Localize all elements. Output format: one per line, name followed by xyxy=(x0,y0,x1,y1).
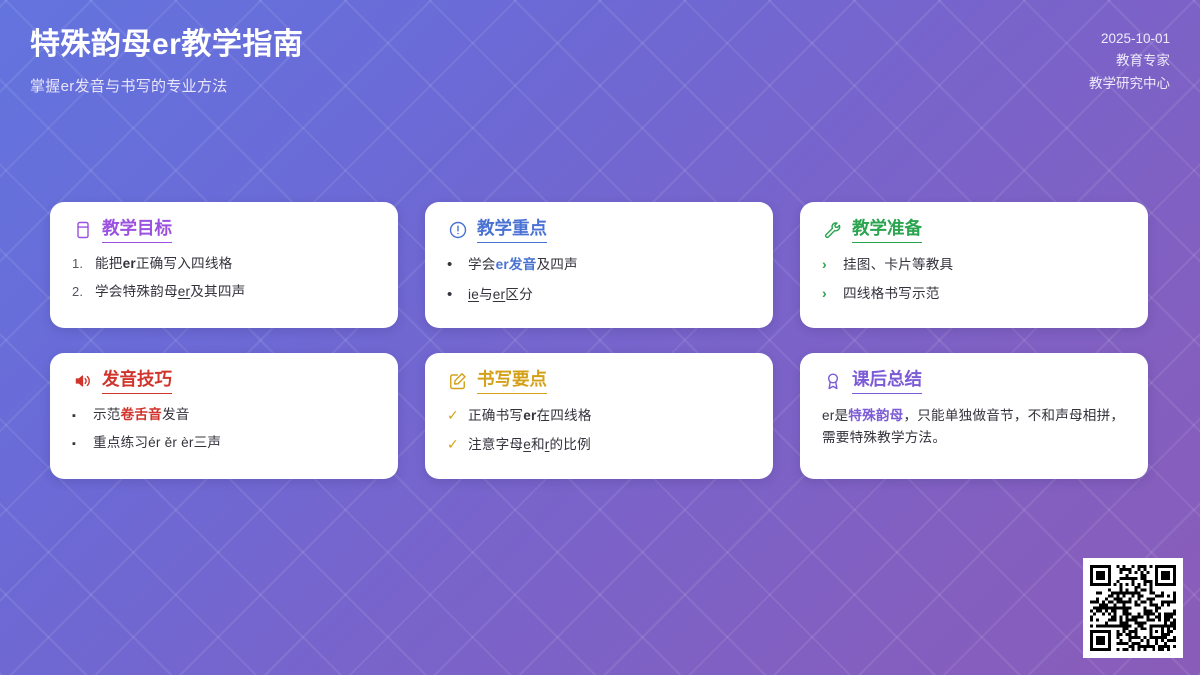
card-list: 1.能把er正确写入四线格2.学会特殊韵母er及其四声 xyxy=(72,254,378,302)
list-marker: 1. xyxy=(72,255,87,274)
card-list: •学会er发音及四声•ie与er区分 xyxy=(447,254,753,306)
list-item-text: ie与er区分 xyxy=(468,285,753,305)
card-writing-points: 书写要点✓正确书写er在四线格✓注意字母e和r的比例 xyxy=(425,353,773,479)
card-teaching-objectives: 教学目标1.能把er正确写入四线格2.学会特殊韵母er及其四声 xyxy=(50,202,398,328)
card-title: 教学目标 xyxy=(102,218,172,243)
wrench-icon xyxy=(822,220,843,241)
header-date: 2025-10-01 xyxy=(1089,28,1170,50)
card-header: 教学目标 xyxy=(72,218,378,243)
card-header: 教学重点 xyxy=(447,218,753,243)
list-item: ›四线格书写示范 xyxy=(822,283,1128,304)
card-title: 教学准备 xyxy=(852,218,922,243)
list-item-text: 重点练习ér ěr èr三声 xyxy=(93,433,378,453)
card-paragraph: er是特殊韵母，只能单独做音节，不和声母相拼，需要特殊教学方法。 xyxy=(822,405,1128,449)
list-marker: ✓ xyxy=(447,434,460,454)
list-marker: • xyxy=(447,284,460,306)
header-organization: 教学研究中心 xyxy=(1089,73,1170,95)
list-marker: › xyxy=(822,254,835,274)
card-header: 课后总结 xyxy=(822,369,1128,394)
card-title: 发音技巧 xyxy=(102,369,172,394)
list-item-text: 学会特殊韵母er及其四声 xyxy=(95,282,378,302)
list-item: ▪重点练习ér ěr èr三声 xyxy=(72,433,378,453)
list-marker: ✓ xyxy=(447,405,460,425)
list-item-text: 能把er正确写入四线格 xyxy=(95,254,378,274)
list-marker: 2. xyxy=(72,283,87,302)
list-item: ▪示范卷舌音发音 xyxy=(72,405,378,425)
list-item-text: 注意字母e和r的比例 xyxy=(468,435,753,455)
list-item-text: 正确书写er在四线格 xyxy=(468,406,753,426)
card-pronunciation-tips: 发音技巧▪示范卷舌音发音▪重点练习ér ěr èr三声 xyxy=(50,353,398,479)
list-item: 2.学会特殊韵母er及其四声 xyxy=(72,282,378,302)
book-icon xyxy=(72,220,93,241)
page-title: 特殊韵母er教学指南 xyxy=(30,26,303,64)
card-grid: 教学目标1.能把er正确写入四线格2.学会特殊韵母er及其四声教学重点•学会er… xyxy=(50,202,1150,479)
list-item-text: 四线格书写示范 xyxy=(843,284,1128,304)
card-header: 教学准备 xyxy=(822,218,1128,243)
page-subtitle: 掌握er发音与书写的专业方法 xyxy=(30,75,303,96)
list-item: •学会er发音及四声 xyxy=(447,254,753,276)
header-title-block: 特殊韵母er教学指南 掌握er发音与书写的专业方法 xyxy=(30,26,303,96)
list-item: ✓正确书写er在四线格 xyxy=(447,405,753,426)
card-title: 课后总结 xyxy=(852,369,922,394)
page-header: 特殊韵母er教学指南 掌握er发音与书写的专业方法 2025-10-01 教育专… xyxy=(0,0,1200,140)
card-header: 发音技巧 xyxy=(72,369,378,394)
list-item-text: 示范卷舌音发音 xyxy=(93,405,378,425)
qr-code-image xyxy=(1090,565,1176,651)
edit-square-icon xyxy=(447,371,468,392)
list-item: ✓注意字母e和r的比例 xyxy=(447,434,753,455)
card-list: ✓正确书写er在四线格✓注意字母e和r的比例 xyxy=(447,405,753,454)
card-title: 书写要点 xyxy=(477,369,547,394)
card-title: 教学重点 xyxy=(477,218,547,243)
card-list: ›挂图、卡片等教具›四线格书写示范 xyxy=(822,254,1128,303)
list-item-text: 学会er发音及四声 xyxy=(468,255,753,275)
list-marker: ▪ xyxy=(72,409,85,425)
card-teaching-focus: 教学重点•学会er发音及四声•ie与er区分 xyxy=(425,202,773,328)
award-icon xyxy=(822,371,843,392)
speaker-icon xyxy=(72,371,93,392)
list-marker: ▪ xyxy=(72,437,85,453)
list-item: •ie与er区分 xyxy=(447,284,753,306)
exclamation-circle-icon xyxy=(447,220,468,241)
list-item: ›挂图、卡片等教具 xyxy=(822,254,1128,275)
list-marker: • xyxy=(447,254,460,276)
list-item-text: 挂图、卡片等教具 xyxy=(843,255,1128,275)
header-meta-block: 2025-10-01 教育专家 教学研究中心 xyxy=(1089,26,1170,95)
card-header: 书写要点 xyxy=(447,369,753,394)
card-list: ▪示范卷舌音发音▪重点练习ér ěr èr三声 xyxy=(72,405,378,453)
card-lesson-summary: 课后总结er是特殊韵母，只能单独做音节，不和声母相拼，需要特殊教学方法。 xyxy=(800,353,1148,479)
header-author: 教育专家 xyxy=(1089,50,1170,72)
list-item: 1.能把er正确写入四线格 xyxy=(72,254,378,274)
qr-code[interactable] xyxy=(1083,558,1183,658)
list-marker: › xyxy=(822,283,835,303)
card-teaching-preparation: 教学准备›挂图、卡片等教具›四线格书写示范 xyxy=(800,202,1148,328)
